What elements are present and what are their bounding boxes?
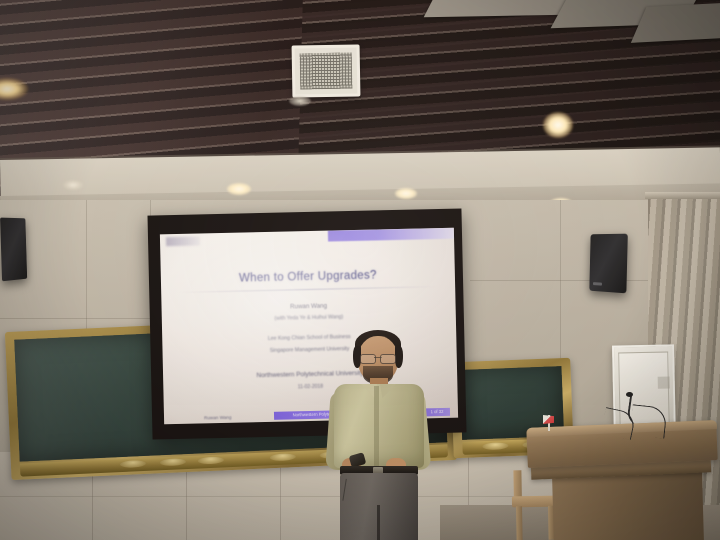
trouser-pocket [342, 479, 362, 503]
microphone-head-icon [626, 392, 633, 397]
presenter [326, 330, 430, 540]
ceiling-light-icon [227, 183, 251, 195]
presenter-hair-side [395, 346, 403, 368]
shirt-placket [374, 386, 379, 466]
slide-coauthors: (with Yeda Ye & Huihui Wang) [162, 312, 456, 325]
ceiling-light-icon [543, 112, 573, 138]
slide-logo [166, 236, 200, 246]
air-vent-grille [292, 44, 361, 97]
lectern-body [552, 472, 704, 540]
curtain-rod [645, 192, 720, 199]
presenter-shirt [334, 384, 424, 468]
vent-mesh [300, 53, 353, 90]
wall-speaker-left [0, 218, 27, 282]
trouser-seam [377, 505, 380, 540]
glasses-icon [360, 354, 396, 362]
slide-title: When to Offer Upgrades? [161, 268, 455, 287]
cabinet-label [658, 376, 670, 388]
ceiling-light-icon [395, 188, 417, 199]
chair-back [513, 470, 521, 498]
slide-footer-author: Ruwan Wang [204, 415, 232, 421]
slide-author: Ruwan Wang [162, 300, 456, 314]
slide-accent-bar [328, 228, 454, 242]
ceiling-light-icon [289, 96, 311, 106]
wall-seam [0, 318, 160, 319]
slide-title-rule [179, 286, 437, 293]
wall-speaker-right [589, 234, 628, 294]
desk-flag-icon [543, 415, 557, 431]
ceiling-light-icon [63, 180, 83, 190]
lectern [527, 424, 717, 540]
lecture-hall-photo: When to Offer Upgrades? Ruwan Wang (with… [0, 0, 720, 540]
